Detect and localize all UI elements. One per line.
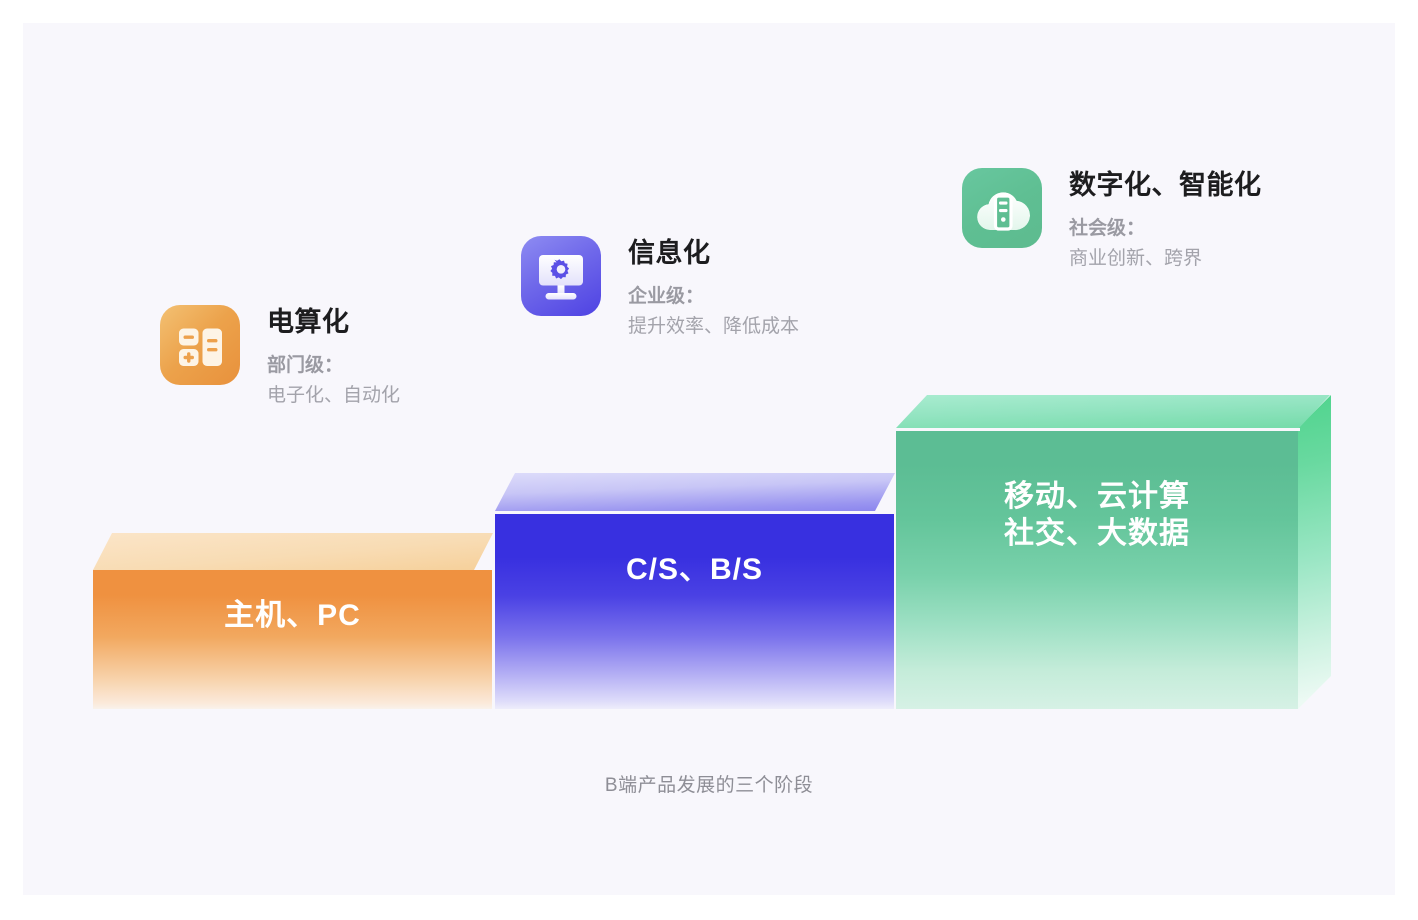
block-front-face bbox=[495, 514, 894, 709]
block-label-3: 移动、云计算 社交、大数据 bbox=[896, 478, 1298, 552]
figure-caption: B端产品发展的三个阶段 bbox=[0, 770, 1418, 797]
diagram-canvas: 电算化 部门级： 电子化、自动化 bbox=[0, 0, 1418, 920]
block-top-face bbox=[495, 473, 895, 511]
stage-description: 提升效率、降低成本 bbox=[628, 313, 799, 342]
cloud-server-icon bbox=[962, 168, 1042, 248]
stage-title: 信息化 bbox=[628, 238, 799, 270]
stage-scope: 企业级： bbox=[628, 283, 799, 312]
stage-group-3: 数字化、智能化 社会级： 商业创新、跨界 bbox=[962, 168, 1262, 274]
monitor-gear-icon bbox=[521, 236, 601, 316]
block-top-face bbox=[896, 395, 1330, 428]
block-label-2: C/S、B/S bbox=[495, 551, 894, 588]
stage-scope: 部门级： bbox=[267, 352, 400, 381]
calculator-icon bbox=[160, 305, 240, 385]
stage-text-2: 信息化 企业级： 提升效率、降低成本 bbox=[628, 236, 799, 342]
stage-group-2: 信息化 企业级： 提升效率、降低成本 bbox=[521, 236, 799, 342]
stage-scope: 社会级： bbox=[1069, 215, 1262, 244]
block-side-face bbox=[1298, 395, 1331, 709]
stage-group-1: 电算化 部门级： 电子化、自动化 bbox=[160, 305, 400, 411]
block-top-face bbox=[93, 533, 493, 570]
step-block-2 bbox=[495, 473, 915, 709]
stage-text-3: 数字化、智能化 社会级： 商业创新、跨界 bbox=[1069, 168, 1262, 274]
stage-description: 商业创新、跨界 bbox=[1069, 245, 1262, 274]
stage-text-1: 电算化 部门级： 电子化、自动化 bbox=[267, 305, 400, 411]
stage-description: 电子化、自动化 bbox=[267, 382, 400, 411]
block-front-face bbox=[93, 570, 492, 709]
stage-title: 数字化、智能化 bbox=[1069, 170, 1262, 202]
block-front-face bbox=[896, 431, 1298, 709]
stage-title: 电算化 bbox=[267, 307, 400, 339]
block-label-1: 主机、PC bbox=[93, 597, 492, 634]
